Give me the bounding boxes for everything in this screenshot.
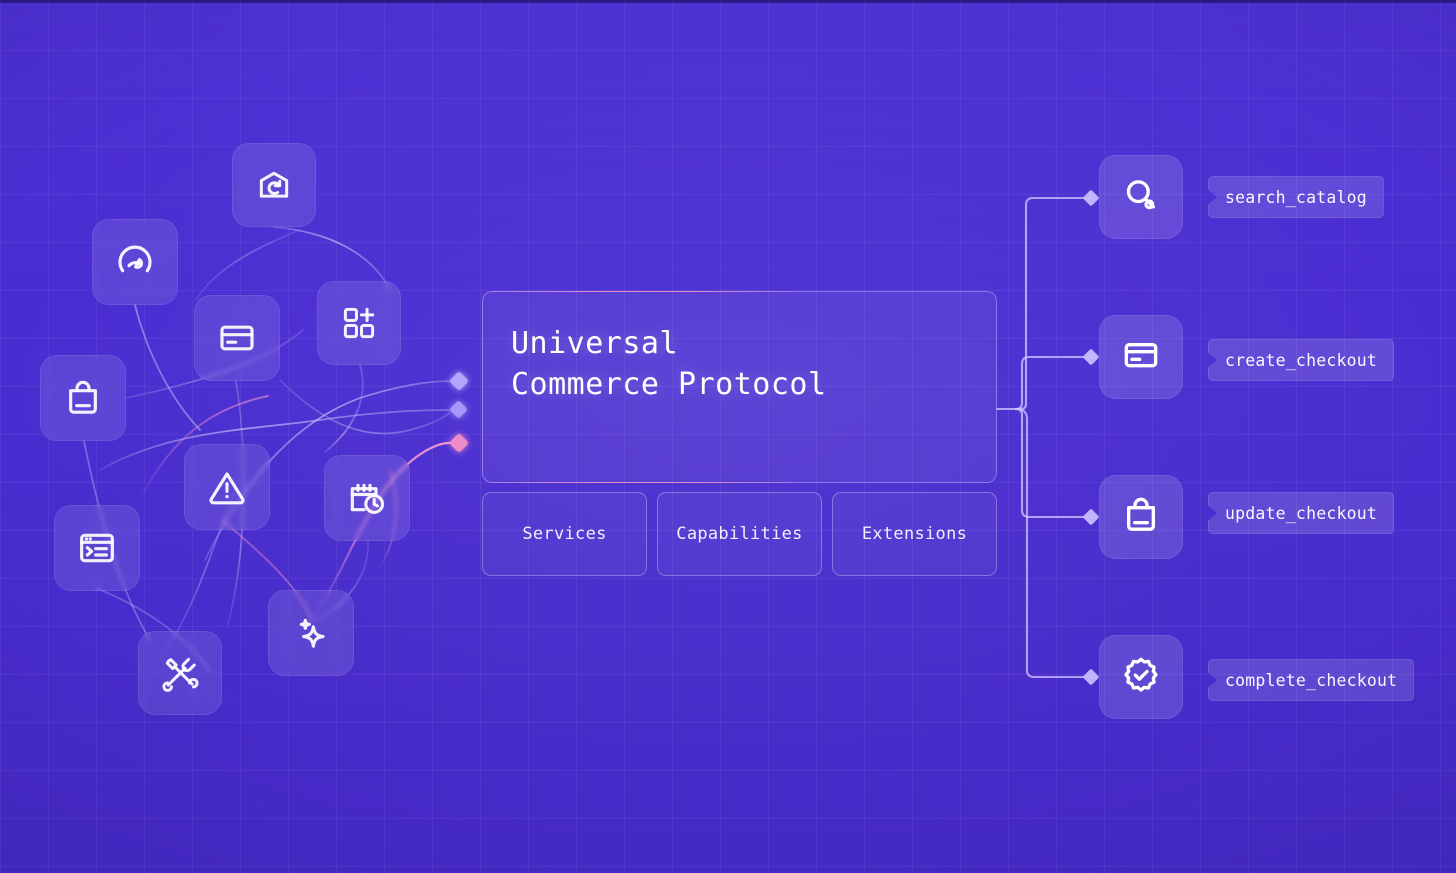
ambient-tile-alert-triangle[interactable] [184, 444, 270, 530]
ambient-tile-shopping-bag[interactable] [40, 355, 126, 441]
action-label-search-catalog[interactable]: search_catalog [1208, 176, 1384, 218]
ambient-tile-grid-plus[interactable] [317, 281, 401, 365]
magnifier-icon [1121, 175, 1161, 219]
package-refresh-icon [255, 166, 293, 204]
grid-plus-icon [340, 304, 378, 342]
ambient-tile-terminal[interactable] [54, 505, 140, 591]
endpoint-diamond-upper [449, 371, 469, 391]
action-tile-search-catalog[interactable] [1099, 155, 1183, 239]
sparkles-icon [291, 613, 331, 653]
subsection-services[interactable]: Services [482, 492, 647, 576]
diagram-canvas: Universal Commerce Protocol Services Cap… [0, 0, 1456, 873]
ambient-tile-package-refresh[interactable] [232, 143, 316, 227]
tools-icon [161, 654, 199, 692]
credit-card-icon [217, 318, 257, 358]
action-label-complete-checkout[interactable]: complete_checkout [1208, 659, 1414, 701]
alert-triangle-icon [207, 467, 247, 507]
top-edge-shade [0, 0, 1456, 3]
credit-card-icon [1121, 335, 1161, 379]
shopping-bag-icon [63, 378, 103, 418]
subsection-extensions[interactable]: Extensions [832, 492, 997, 576]
shopping-bag-icon [1121, 495, 1161, 539]
protocol-card: Universal Commerce Protocol [482, 291, 997, 483]
protocol-subsections: Services Capabilities Extensions [482, 492, 997, 576]
verified-check-icon [1121, 655, 1161, 699]
action-tile-create-checkout[interactable] [1099, 315, 1183, 399]
calendar-clock-icon [347, 478, 387, 518]
action-label-update-checkout[interactable]: update_checkout [1208, 492, 1394, 534]
ambient-tile-calendar-clock[interactable] [324, 455, 410, 541]
gauge-icon [115, 242, 155, 282]
endpoint-diamond-pink [449, 433, 469, 453]
action-tile-complete-checkout[interactable] [1099, 635, 1183, 719]
ambient-tile-credit-card[interactable] [194, 295, 280, 381]
endpoint-diamond-mid [449, 400, 467, 418]
page-title: Universal Commerce Protocol [511, 323, 827, 405]
action-tile-update-checkout[interactable] [1099, 475, 1183, 559]
ambient-tile-gauge[interactable] [92, 219, 178, 305]
action-label-create-checkout[interactable]: create_checkout [1208, 339, 1394, 381]
ambient-tile-sparkles[interactable] [268, 590, 354, 676]
subsection-capabilities[interactable]: Capabilities [657, 492, 822, 576]
terminal-icon [77, 528, 117, 568]
ambient-tile-tools[interactable] [138, 631, 222, 715]
